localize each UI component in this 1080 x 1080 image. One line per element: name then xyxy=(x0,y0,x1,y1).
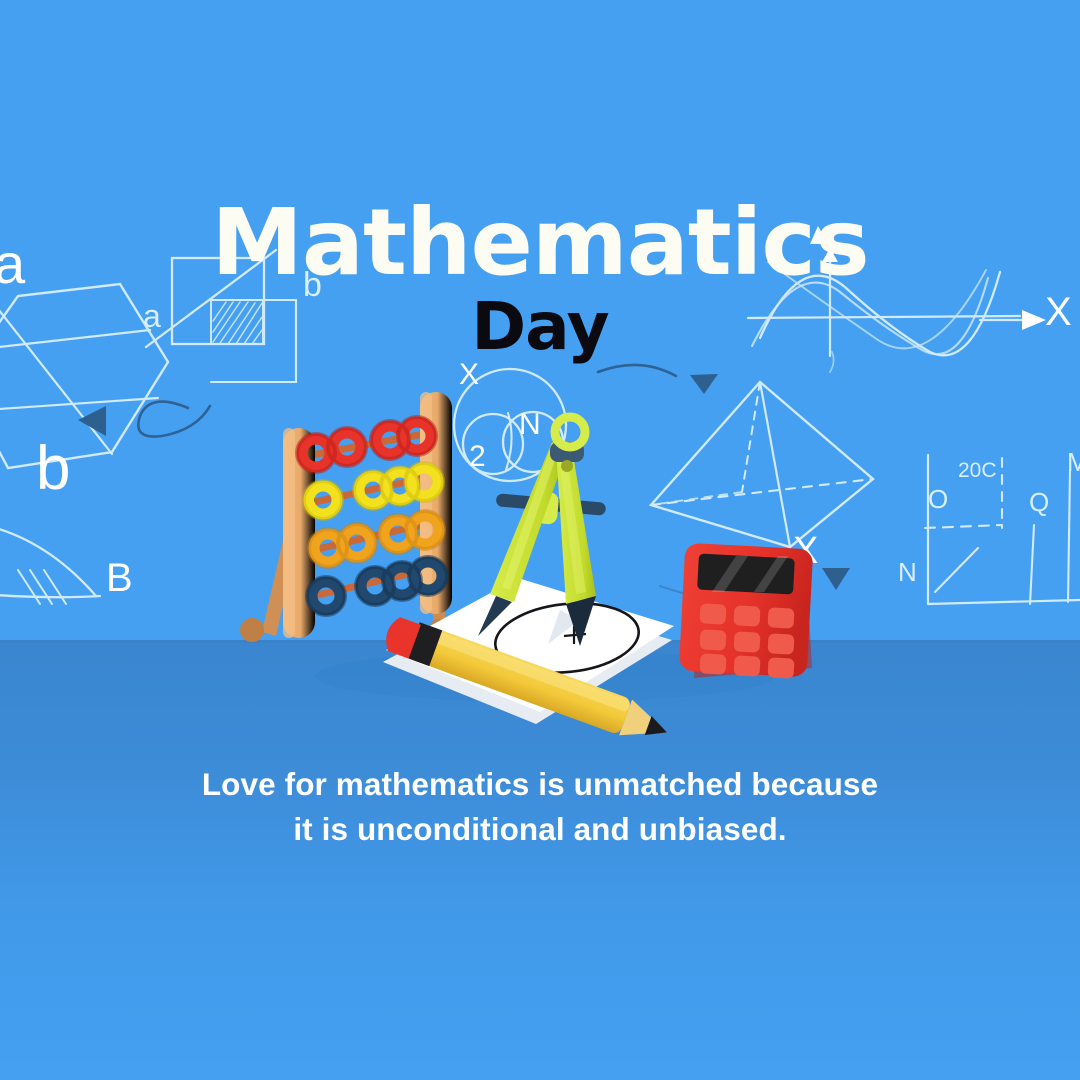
tagline-line-1: Love for mathematics is unmatched becaus… xyxy=(110,762,970,807)
stationery-illustration xyxy=(0,0,1080,1080)
abacus xyxy=(240,392,452,642)
calculator-button xyxy=(767,607,794,628)
compass-ring xyxy=(555,417,585,447)
tagline-line-2: it is unconditional and unbiased. xyxy=(110,807,970,852)
calculator-button xyxy=(699,653,726,674)
calculator-button xyxy=(767,633,794,654)
calculator-button xyxy=(767,657,794,678)
calculator-button xyxy=(733,631,760,652)
calculator xyxy=(679,543,814,679)
calculator-button xyxy=(733,605,760,626)
compass-pivot-screw xyxy=(561,460,573,472)
calculator-button xyxy=(733,655,760,676)
abacus-foot-rear xyxy=(240,618,264,642)
calculator-button xyxy=(699,603,726,624)
calculator-button xyxy=(699,629,726,650)
poster-canvas: a a b b B X N 2 X X 20C O Q N M Mathemat… xyxy=(0,0,1080,1080)
abacus-post-left-highlight xyxy=(283,428,295,638)
calculator-buttons xyxy=(699,603,794,678)
tagline: Love for mathematics is unmatched becaus… xyxy=(110,762,970,851)
